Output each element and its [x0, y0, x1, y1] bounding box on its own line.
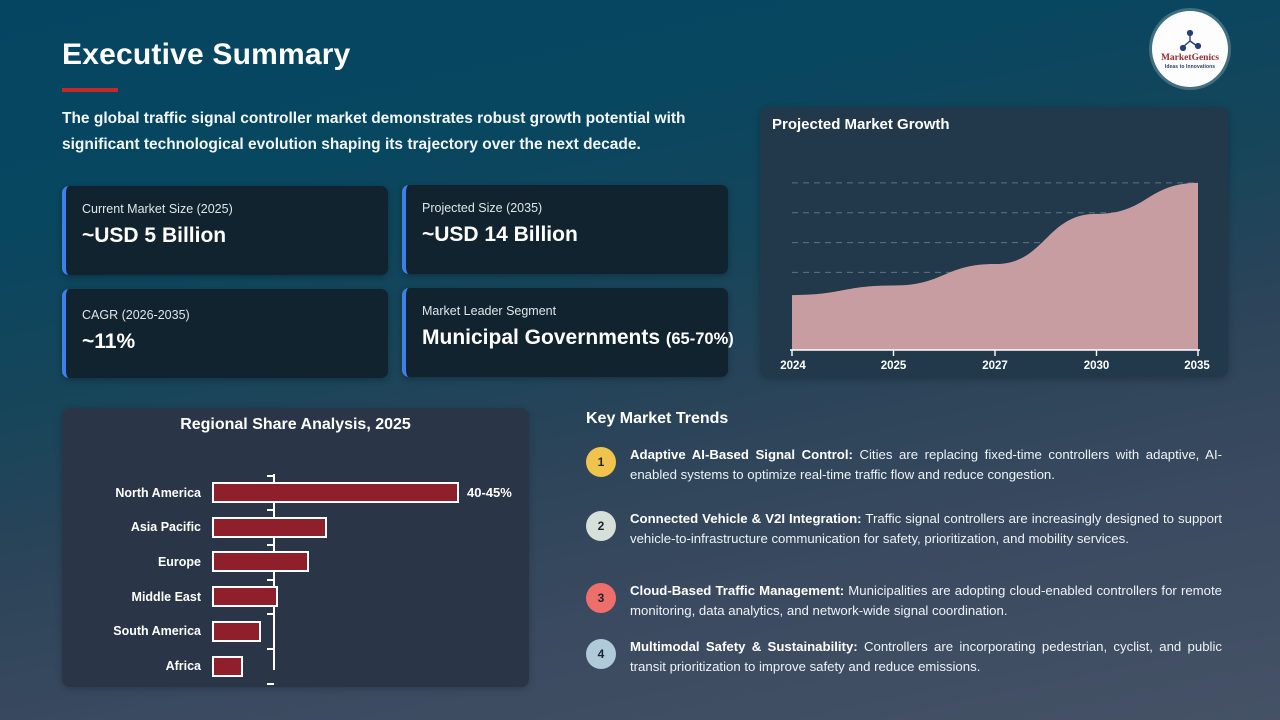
region-axis-tick: [267, 683, 274, 685]
growth-axis-label: 2025: [881, 360, 907, 372]
trend-heading: Cloud-Based Traffic Management:: [630, 583, 844, 598]
regional-share-card: Regional Share Analysis, 2025 North Amer…: [62, 408, 529, 687]
region-bar-row: South America: [62, 614, 529, 649]
trend-heading: Multimodal Safety & Sustainability:: [630, 639, 858, 654]
region-axis-tick: [267, 613, 274, 615]
trend-item: 2Connected Vehicle & V2I Integration: Tr…: [586, 509, 1222, 548]
region-bar-track: 40-45%: [212, 475, 529, 510]
trend-heading: Adaptive AI-Based Signal Control:: [630, 447, 853, 462]
growth-chart-title: Projected Market Growth: [772, 116, 950, 133]
kpi-value-main: ~USD 5 Billion: [82, 224, 226, 247]
region-bar-label: Africa: [62, 659, 212, 673]
region-bar-track: [212, 544, 529, 579]
kpi-value-main: Municipal Governments: [422, 326, 660, 349]
projected-market-growth-card: Projected Market Growth 2024202520272030…: [760, 107, 1228, 377]
slide-header: Executive Summary MarketGenics Ideas to …: [0, 0, 1280, 100]
region-bar-track: [212, 510, 529, 545]
kpi-value-suffix: (65-70%): [666, 330, 734, 348]
kpi-value: Municipal Governments (65-70%): [422, 326, 710, 351]
region-axis-tick: [267, 648, 274, 650]
region-bar-fill[interactable]: [212, 517, 327, 538]
kpi-card-cagr: CAGR (2026-2035) ~11%: [62, 289, 388, 378]
trend-text: Multimodal Safety & Sustainability: Cont…: [630, 637, 1222, 676]
region-bar-row: Africa: [62, 649, 529, 684]
region-bar-track: [212, 649, 529, 684]
trend-number-badge: 1: [586, 447, 616, 477]
region-bar-fill[interactable]: [212, 482, 459, 503]
region-bar-label: Middle East: [62, 590, 212, 604]
slide-root: Executive Summary MarketGenics Ideas to …: [0, 0, 1280, 720]
kpi-label: Current Market Size (2025): [82, 202, 370, 216]
growth-axis-label: 2035: [1184, 360, 1210, 372]
growth-axis-label: 2030: [1084, 360, 1110, 372]
region-axis-tick: [267, 544, 274, 546]
trend-number-badge: 4: [586, 639, 616, 669]
region-bar-row: Europe: [62, 544, 529, 579]
region-bar-fill[interactable]: [212, 551, 309, 572]
trend-text: Adaptive AI-Based Signal Control: Cities…: [630, 445, 1222, 484]
intro-paragraph: The global traffic signal controller mar…: [62, 106, 730, 158]
region-bar-fill[interactable]: [212, 621, 261, 642]
region-axis-tick: [267, 509, 274, 511]
region-bar-row: North America40-45%: [62, 475, 529, 510]
region-bar-value-label: 40-45%: [467, 485, 512, 500]
trend-text: Connected Vehicle & V2I Integration: Tra…: [630, 509, 1222, 548]
kpi-label: Projected Size (2035): [422, 201, 710, 215]
logo-brand-text: MarketGenics: [1161, 54, 1219, 64]
growth-area-fill: [792, 183, 1198, 350]
region-bar-row: Middle East: [62, 579, 529, 614]
kpi-card-current-market-size: Current Market Size (2025) ~USD 5 Billio…: [62, 186, 388, 275]
key-trends-section: Key Market Trends 1Adaptive AI-Based Sig…: [586, 410, 1226, 436]
region-bar-label: Asia Pacific: [62, 520, 212, 534]
region-bar-label: North America: [62, 486, 212, 500]
trend-number-badge: 2: [586, 511, 616, 541]
growth-axis-label: 2024: [780, 360, 806, 372]
kpi-card-market-leader-segment: Market Leader Segment Municipal Governme…: [402, 288, 728, 377]
kpi-value-main: ~11%: [82, 330, 135, 353]
region-chart-plot: North America40-45%Asia PacificEuropeMid…: [62, 458, 529, 683]
growth-axis-label: 2027: [982, 360, 1008, 372]
region-bar-track: [212, 614, 529, 649]
trend-heading: Connected Vehicle & V2I Integration:: [630, 511, 862, 526]
region-axis-tick: [267, 579, 274, 581]
trend-item: 1Adaptive AI-Based Signal Control: Citie…: [586, 445, 1222, 484]
region-bar-row: Asia Pacific: [62, 510, 529, 545]
region-bar-label: South America: [62, 624, 212, 638]
key-trends-title: Key Market Trends: [586, 410, 1226, 428]
logo-badge: MarketGenics Ideas to Innovations: [1152, 11, 1228, 87]
network-nodes-icon: [1177, 29, 1203, 53]
growth-chart-plot: 20242025202720302035: [760, 135, 1228, 377]
growth-area-svg: [760, 135, 1228, 377]
kpi-value: ~11%: [82, 330, 370, 354]
logo-tagline-text: Ideas to Innovations: [1165, 65, 1215, 70]
trend-text: Cloud-Based Traffic Management: Municipa…: [630, 581, 1222, 620]
region-bar-fill[interactable]: [212, 656, 243, 677]
region-bar-fill[interactable]: [212, 586, 278, 607]
kpi-value: ~USD 14 Billion: [422, 223, 710, 247]
kpi-value-main: ~USD 14 Billion: [422, 223, 578, 246]
kpi-label: Market Leader Segment: [422, 304, 710, 318]
title-underline-rule: [62, 88, 118, 92]
region-bar-track: [212, 579, 529, 614]
kpi-label: CAGR (2026-2035): [82, 308, 370, 322]
kpi-card-projected-size: Projected Size (2035) ~USD 14 Billion: [402, 185, 728, 274]
trend-number-badge: 3: [586, 583, 616, 613]
trend-item: 4Multimodal Safety & Sustainability: Con…: [586, 637, 1222, 676]
trend-item: 3Cloud-Based Traffic Management: Municip…: [586, 581, 1222, 620]
kpi-value: ~USD 5 Billion: [82, 224, 370, 248]
region-chart-title: Regional Share Analysis, 2025: [62, 416, 529, 434]
region-bar-label: Europe: [62, 555, 212, 569]
page-title: Executive Summary: [62, 38, 351, 72]
region-axis-tick: [267, 475, 274, 477]
